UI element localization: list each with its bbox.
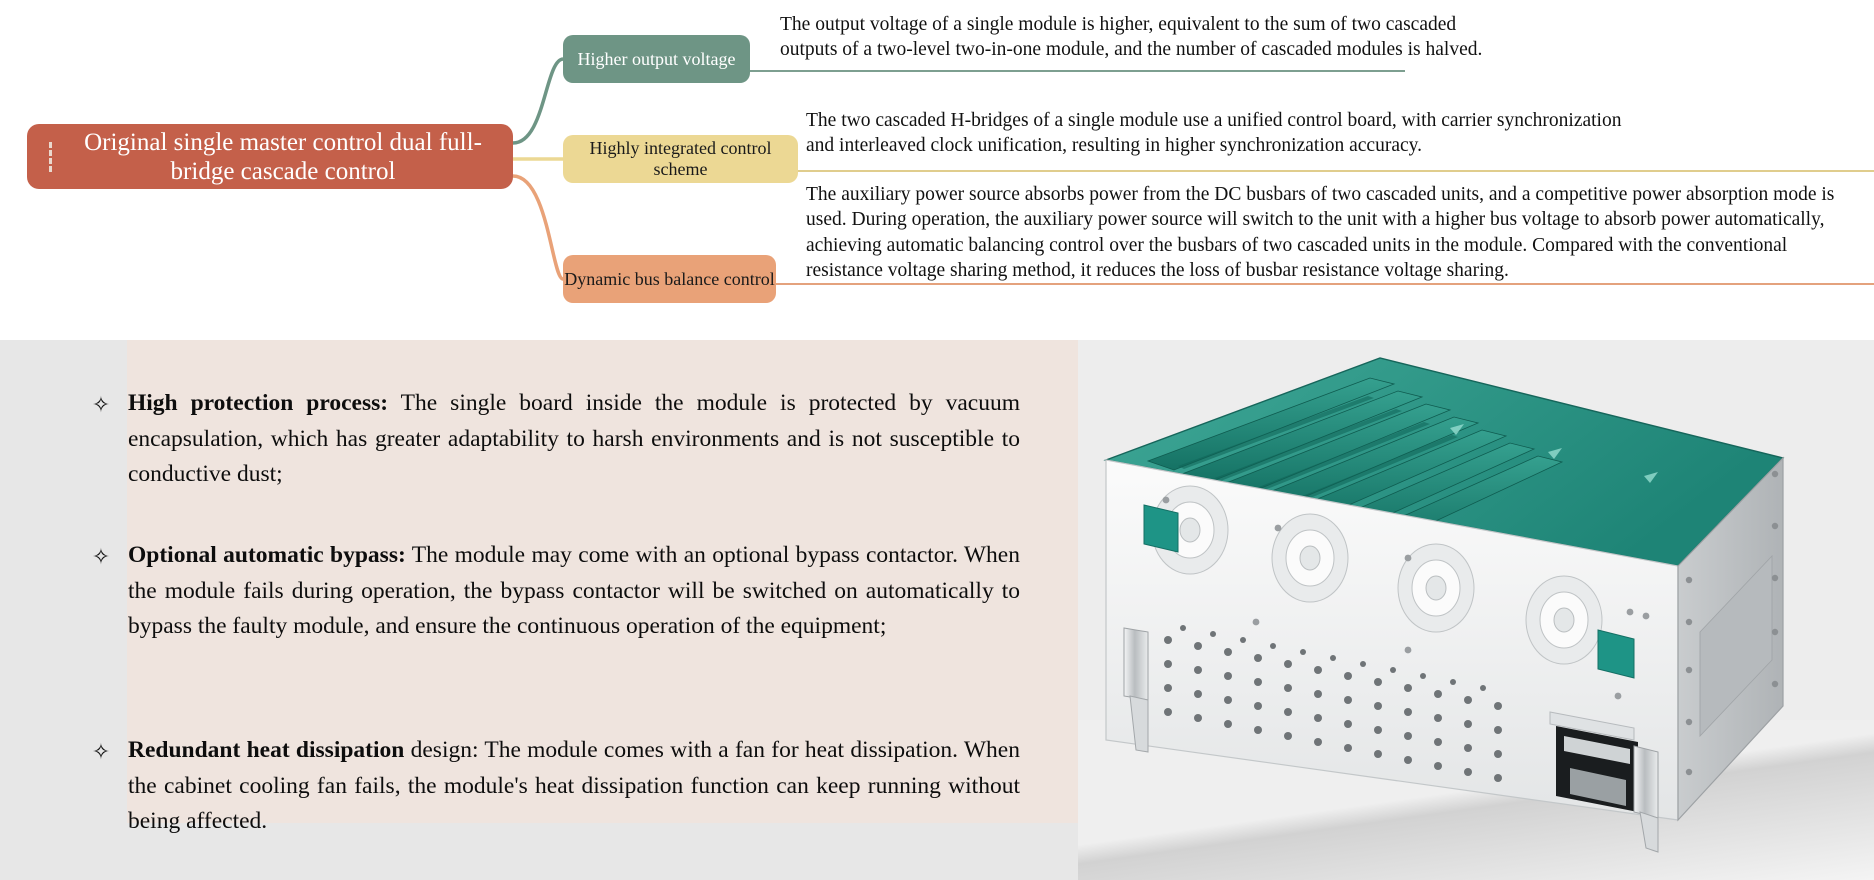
terminal-bay [1550,712,1638,812]
mindmap-branch-dynamic-bus-balance-control[interactable]: Dynamic bus balance control [563,255,776,303]
cooling-fan-icon [1526,576,1602,664]
branch-description-green: The output voltage of a single module is… [780,12,1500,63]
feature-item-high-protection-process: ✧ High protection process: The single bo… [80,386,1020,493]
mindmap-root-label: Original single master control dual full… [53,128,513,186]
four-point-star-icon: ✧ [88,540,114,573]
mindmap-root-node[interactable]: Original single master control dual full… [27,124,513,189]
product-module-image [1078,340,1874,880]
branch-description-yellow: The two cascaded H-bridges of a single m… [806,108,1646,159]
connector-port-left [1144,505,1178,552]
connector-green [513,59,563,143]
module-handle-right[interactable] [1634,746,1658,852]
underline-green [750,70,1405,72]
feature-item-redundant-heat-dissipation: ✧ Redundant heat dissipation design: The… [80,733,1020,840]
branch-label-orange: Dynamic bus balance control [564,269,774,290]
branch-description-orange: The auxiliary power source absorbs power… [806,182,1856,283]
feature-title-3: Redundant heat dissipation [128,737,404,763]
underline-yellow [798,170,1874,172]
feature-title-1: High protection process: [128,390,388,416]
connector-orange [513,176,563,279]
four-point-star-icon: ✧ [88,735,114,768]
branch-label-green: Higher output voltage [578,49,736,70]
root-node-dashed-marker [49,142,52,172]
features-section: ✧ High protection process: The single bo… [0,340,1874,880]
feature-list: ✧ High protection process: The single bo… [0,340,1100,880]
mindmap-branch-highly-integrated-control-scheme[interactable]: Highly integrated control scheme [563,135,798,183]
slide-canvas: Original single master control dual full… [0,0,1874,880]
mindmap-section: Original single master control dual full… [0,0,1874,340]
branch-label-yellow: Highly integrated control scheme [563,138,798,180]
mindmap-branch-higher-output-voltage[interactable]: Higher output voltage [563,35,750,83]
feature-title-2: Optional automatic bypass: [128,542,406,568]
connector-port-right [1598,630,1634,678]
feature-item-optional-automatic-bypass: ✧ Optional automatic bypass: The module … [80,538,1020,645]
four-point-star-icon: ✧ [88,388,114,421]
cooling-fan-icon [1272,514,1348,602]
